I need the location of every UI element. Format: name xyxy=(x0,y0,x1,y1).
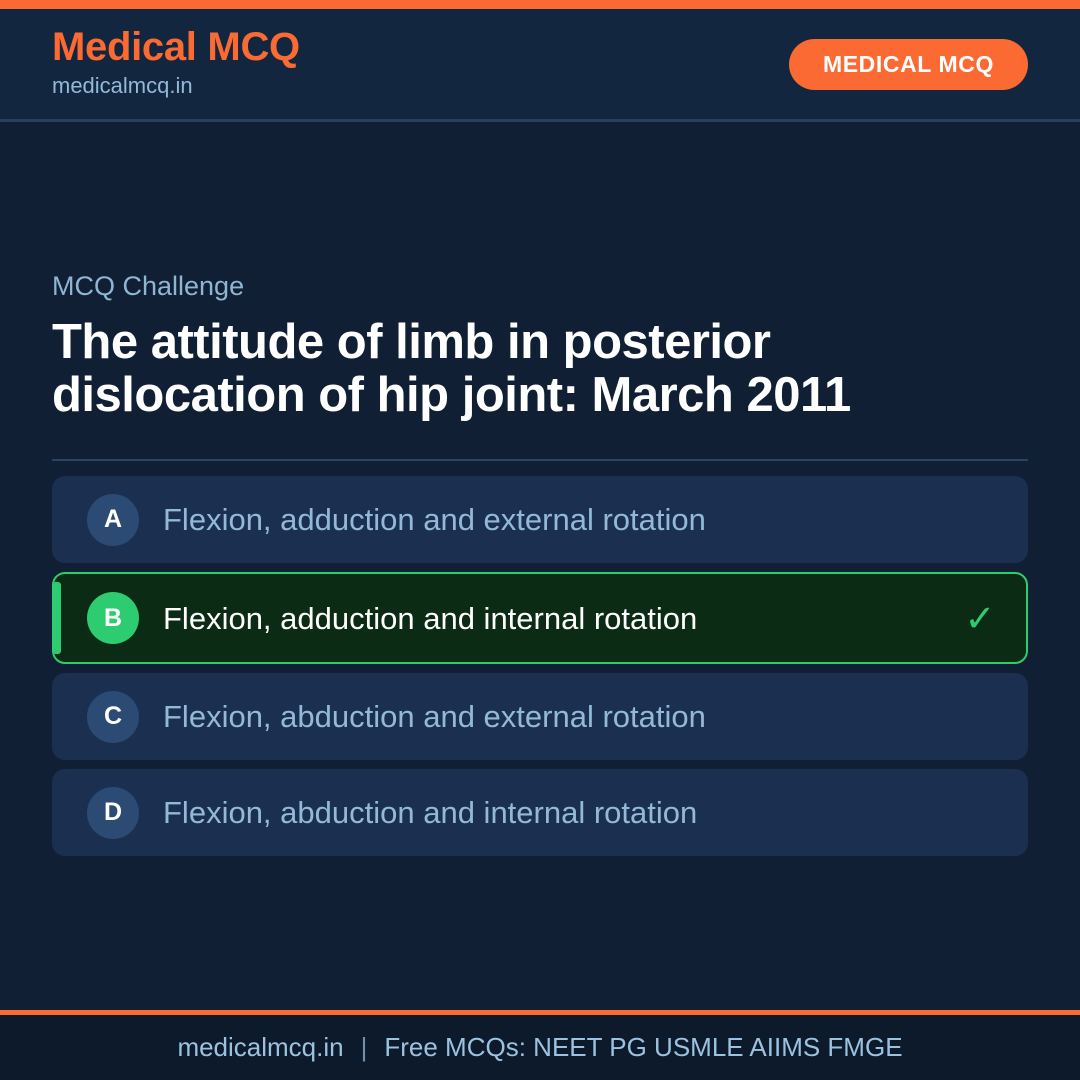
footer-tags: Free MCQs: NEET PG USMLE AIIMS FMGE xyxy=(384,1032,902,1063)
mcq-card: Medical MCQ medicalmcq.in MEDICAL MCQ MC… xyxy=(0,0,1080,1080)
brand-title: Medical MCQ xyxy=(52,26,300,68)
option-b-accent-bar xyxy=(54,582,61,654)
option-a-letter: A xyxy=(87,494,139,546)
footer: medicalmcq.in | Free MCQs: NEET PG USMLE… xyxy=(0,1015,1080,1080)
brand-subtitle: medicalmcq.in xyxy=(52,70,300,102)
option-d[interactable]: D Flexion, abduction and internal rotati… xyxy=(52,769,1028,856)
option-a[interactable]: A Flexion, adduction and external rotati… xyxy=(52,476,1028,563)
options-list: A Flexion, adduction and external rotati… xyxy=(52,476,1028,856)
option-b-letter: B xyxy=(87,592,139,644)
header: Medical MCQ medicalmcq.in MEDICAL MCQ xyxy=(0,9,1080,122)
option-c[interactable]: C Flexion, abduction and external rotati… xyxy=(52,673,1028,760)
question-title: The attitude of limb in posterior disloc… xyxy=(52,316,1028,422)
option-c-letter: C xyxy=(87,691,139,743)
eyebrow-label: MCQ Challenge xyxy=(52,270,1028,302)
option-b-check-icon: ✓ xyxy=(962,600,998,637)
footer-site: medicalmcq.in xyxy=(177,1032,343,1063)
title-divider xyxy=(52,459,1028,461)
footer-separator: | xyxy=(361,1032,368,1063)
option-c-text: Flexion, abduction and external rotation xyxy=(163,698,962,735)
option-d-letter: D xyxy=(87,787,139,839)
header-badge: MEDICAL MCQ xyxy=(789,39,1028,90)
option-b[interactable]: B Flexion, adduction and internal rotati… xyxy=(52,572,1028,664)
brand: Medical MCQ medicalmcq.in xyxy=(52,26,300,102)
option-b-text: Flexion, adduction and internal rotation xyxy=(163,600,962,637)
option-d-text: Flexion, abduction and internal rotation xyxy=(163,794,962,831)
option-a-text: Flexion, adduction and external rotation xyxy=(163,501,962,538)
top-accent-bar xyxy=(0,0,1080,9)
main-content: MCQ Challenge The attitude of limb in po… xyxy=(0,122,1080,1010)
